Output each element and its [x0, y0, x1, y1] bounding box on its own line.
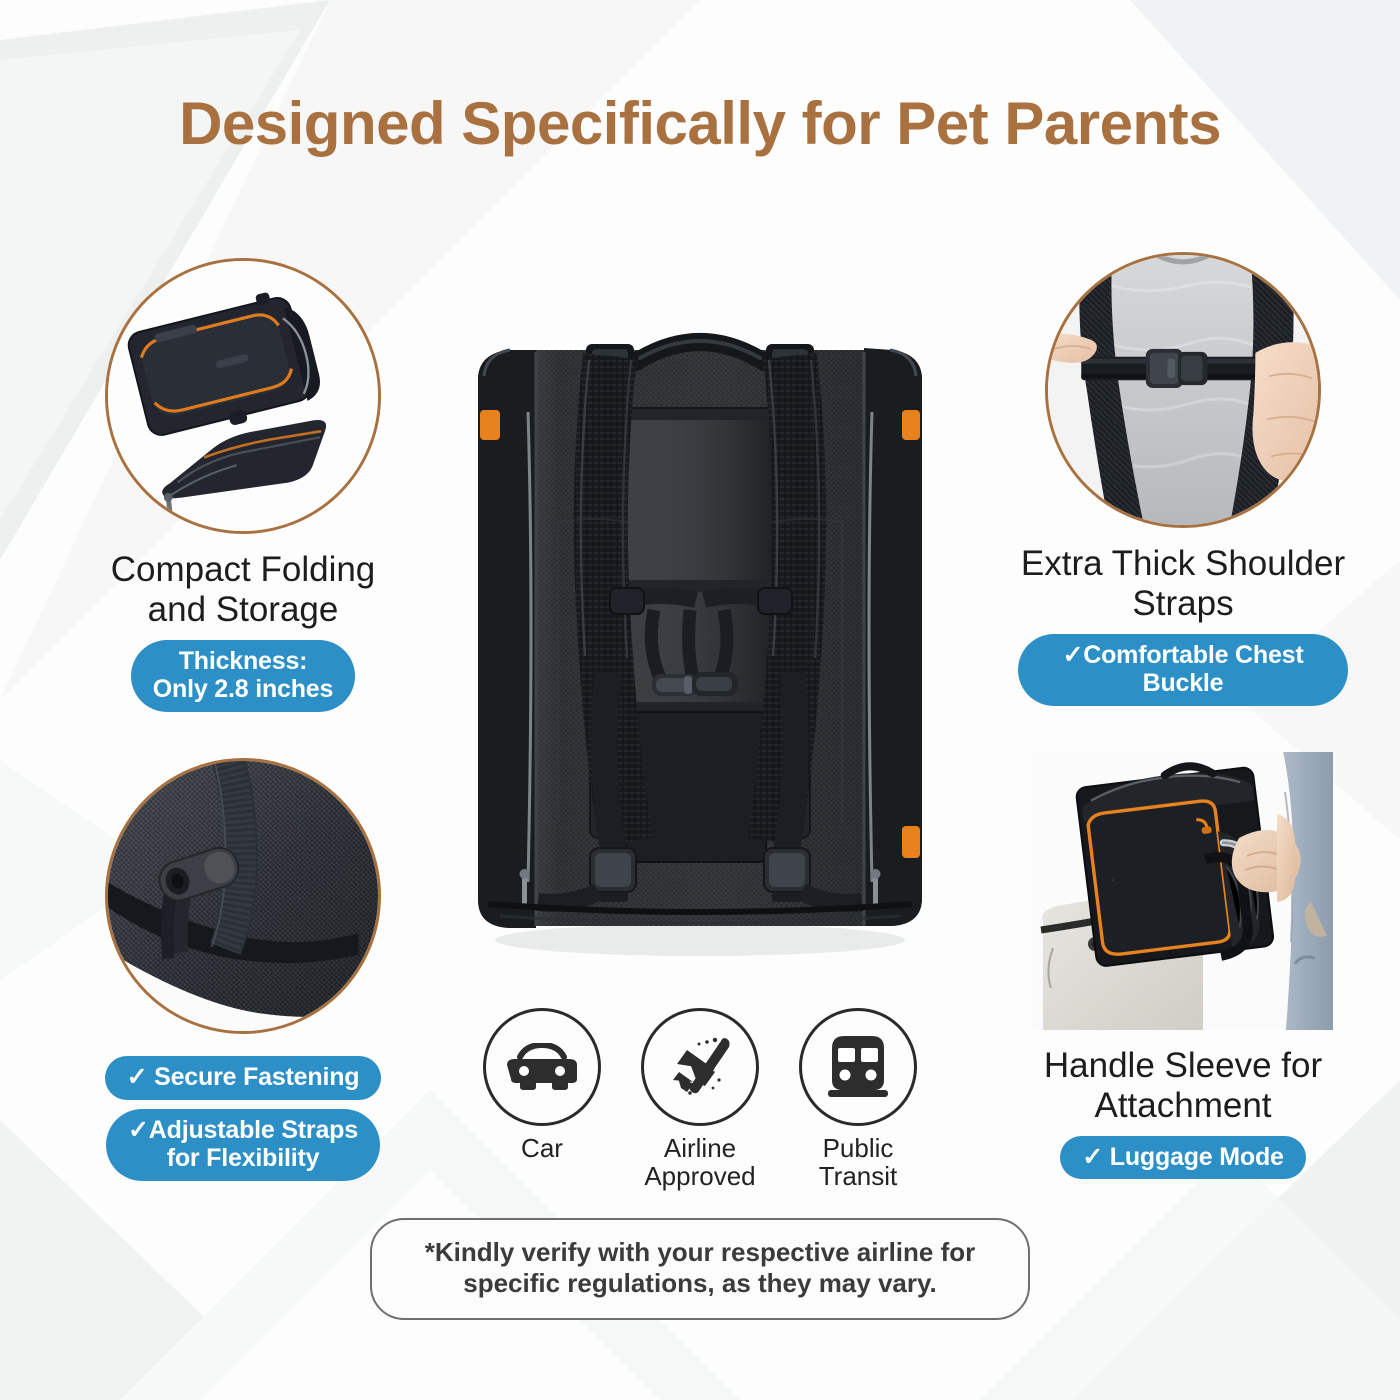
strap-buckle-closeup-photo	[105, 758, 381, 1034]
status-badge: Thickness: Only 2.8 inches	[131, 640, 355, 712]
train-icon-frame	[799, 1008, 917, 1126]
feature-badges: ✓ Secure Fastening ✓Adjustable Straps fo…	[78, 1056, 408, 1181]
backpack-illustration	[440, 292, 960, 992]
transport-item-airline: Airline Approved	[640, 1008, 760, 1190]
feature-title: Extra Thick Shoulder Straps	[1018, 544, 1348, 624]
feature-handle-sleeve: ·	[1018, 752, 1348, 1179]
luggage-attachment-illustration: ·	[1033, 752, 1333, 1030]
feature-badges: ✓Comfortable Chest Buckle	[1018, 634, 1348, 706]
status-badge: ✓ Secure Fastening	[105, 1056, 382, 1100]
page-title: Designed Specifically for Pet Parents	[0, 92, 1400, 155]
feature-badges: Thickness: Only 2.8 inches	[78, 640, 408, 712]
transport-label: Public Transit	[798, 1135, 918, 1190]
right-hand	[1252, 342, 1318, 481]
transport-item-car: Car	[482, 1008, 602, 1163]
feature-shoulder-straps: Extra Thick Shoulder Straps ✓Comfortable…	[1018, 252, 1348, 706]
feature-compact-folding: Compact Folding and Storage Thickness: O…	[78, 258, 408, 712]
feature-secure-fastening: ✓ Secure Fastening ✓Adjustable Straps fo…	[78, 758, 408, 1181]
luggage-attachment-photo: ·	[1033, 752, 1333, 1030]
transport-label: Airline Approved	[640, 1135, 760, 1190]
infographic-page: Designed Specifically for Pet Parents	[0, 0, 1400, 1400]
feature-title: Compact Folding and Storage	[78, 550, 408, 630]
train-icon	[826, 1034, 890, 1100]
status-badge: ✓Adjustable Straps for Flexibility	[106, 1109, 380, 1181]
status-badge: ✓Comfortable Chest Buckle	[1018, 634, 1348, 706]
car-icon-frame	[483, 1008, 601, 1126]
airplane-icon	[663, 1032, 737, 1102]
transport-label: Car	[482, 1135, 602, 1163]
orange-accent-left	[480, 410, 500, 440]
airline-disclaimer: *Kindly verify with your respective airl…	[370, 1218, 1030, 1320]
feature-badges: ✓ Luggage Mode	[1018, 1136, 1348, 1180]
transport-modes: Car	[482, 1008, 918, 1190]
chest-buckle-worn-photo	[1045, 252, 1321, 528]
chest-buckle	[652, 672, 738, 696]
chest-buckle-illustration	[1048, 255, 1318, 525]
strap-buckle-illustration	[108, 761, 378, 1031]
folded-backpack-photo	[105, 258, 381, 534]
orange-accent-right	[902, 410, 920, 440]
pet-carrier-backpack-rear-view	[440, 292, 960, 992]
feature-title: Handle Sleeve for Attachment	[1018, 1046, 1348, 1126]
status-badge: ✓ Luggage Mode	[1060, 1136, 1305, 1180]
transport-item-transit: Public Transit	[798, 1008, 918, 1190]
car-icon	[505, 1043, 579, 1091]
airplane-icon-frame	[641, 1008, 759, 1126]
folded-backpack-illustration	[108, 261, 378, 531]
orange-accent-lower-right	[902, 826, 920, 858]
